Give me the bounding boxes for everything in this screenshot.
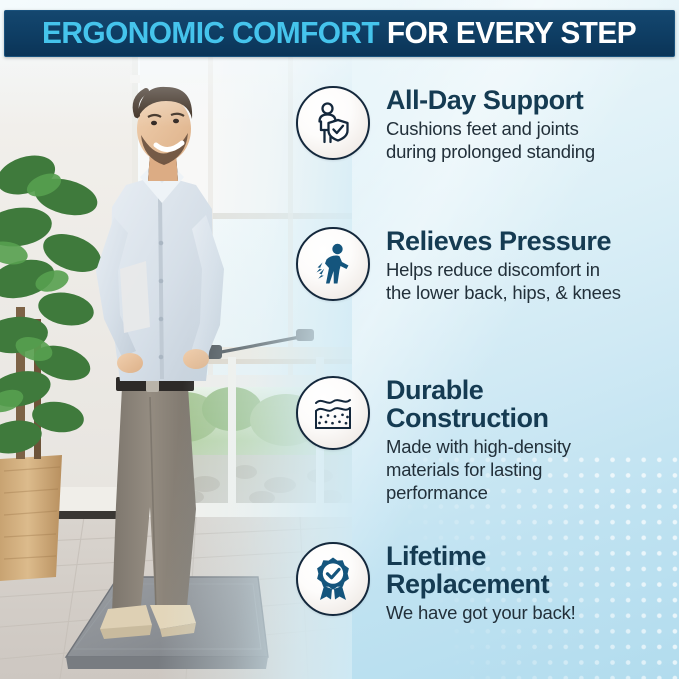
feature-description: Made with high-density materials for las… — [386, 435, 571, 505]
feature-text-block: Durable Construction Made with high-dens… — [370, 376, 571, 504]
feature-title: Relieves Pressure — [386, 228, 621, 256]
feature-text-block: All-Day Support Cushions feet and joints… — [370, 86, 595, 163]
feature-description: We have got your back! — [386, 601, 576, 624]
feature-item-lifetime-replacement: Lifetime Replacement We have got your ba… — [296, 542, 576, 624]
header-banner: ERGONOMIC COMFORT FOR EVERY STEP — [4, 10, 675, 57]
infographic-canvas: ERGONOMIC COMFORT FOR EVERY STEP — [0, 0, 679, 679]
feature-title: Durable Construction — [386, 377, 571, 433]
feature-description: Helps reduce discomfort in the lower bac… — [386, 258, 621, 305]
feature-item-relieves-pressure: Relieves Pressure Helps reduce discomfor… — [296, 227, 621, 304]
back-pain-person-icon — [296, 227, 370, 301]
feature-title: All-Day Support — [386, 87, 595, 115]
feature-item-durable-construction: Durable Construction Made with high-dens… — [296, 376, 571, 504]
feature-text-block: Relieves Pressure Helps reduce discomfor… — [370, 227, 621, 304]
award-badge-icon — [296, 542, 370, 616]
feature-description: Cushions feet and joints during prolonge… — [386, 117, 595, 164]
feature-item-all-day-support: All-Day Support Cushions feet and joints… — [296, 86, 595, 163]
header-plain-text: FOR EVERY STEP — [380, 16, 637, 50]
feature-title: Lifetime Replacement — [386, 543, 576, 599]
person-shield-icon — [296, 86, 370, 160]
feature-text-block: Lifetime Replacement We have got your ba… — [370, 542, 576, 624]
foam-layers-icon — [296, 376, 370, 450]
header-accent-text: ERGONOMIC COMFORT — [42, 16, 379, 50]
header-banner-text: ERGONOMIC COMFORT FOR EVERY STEP — [42, 18, 636, 49]
